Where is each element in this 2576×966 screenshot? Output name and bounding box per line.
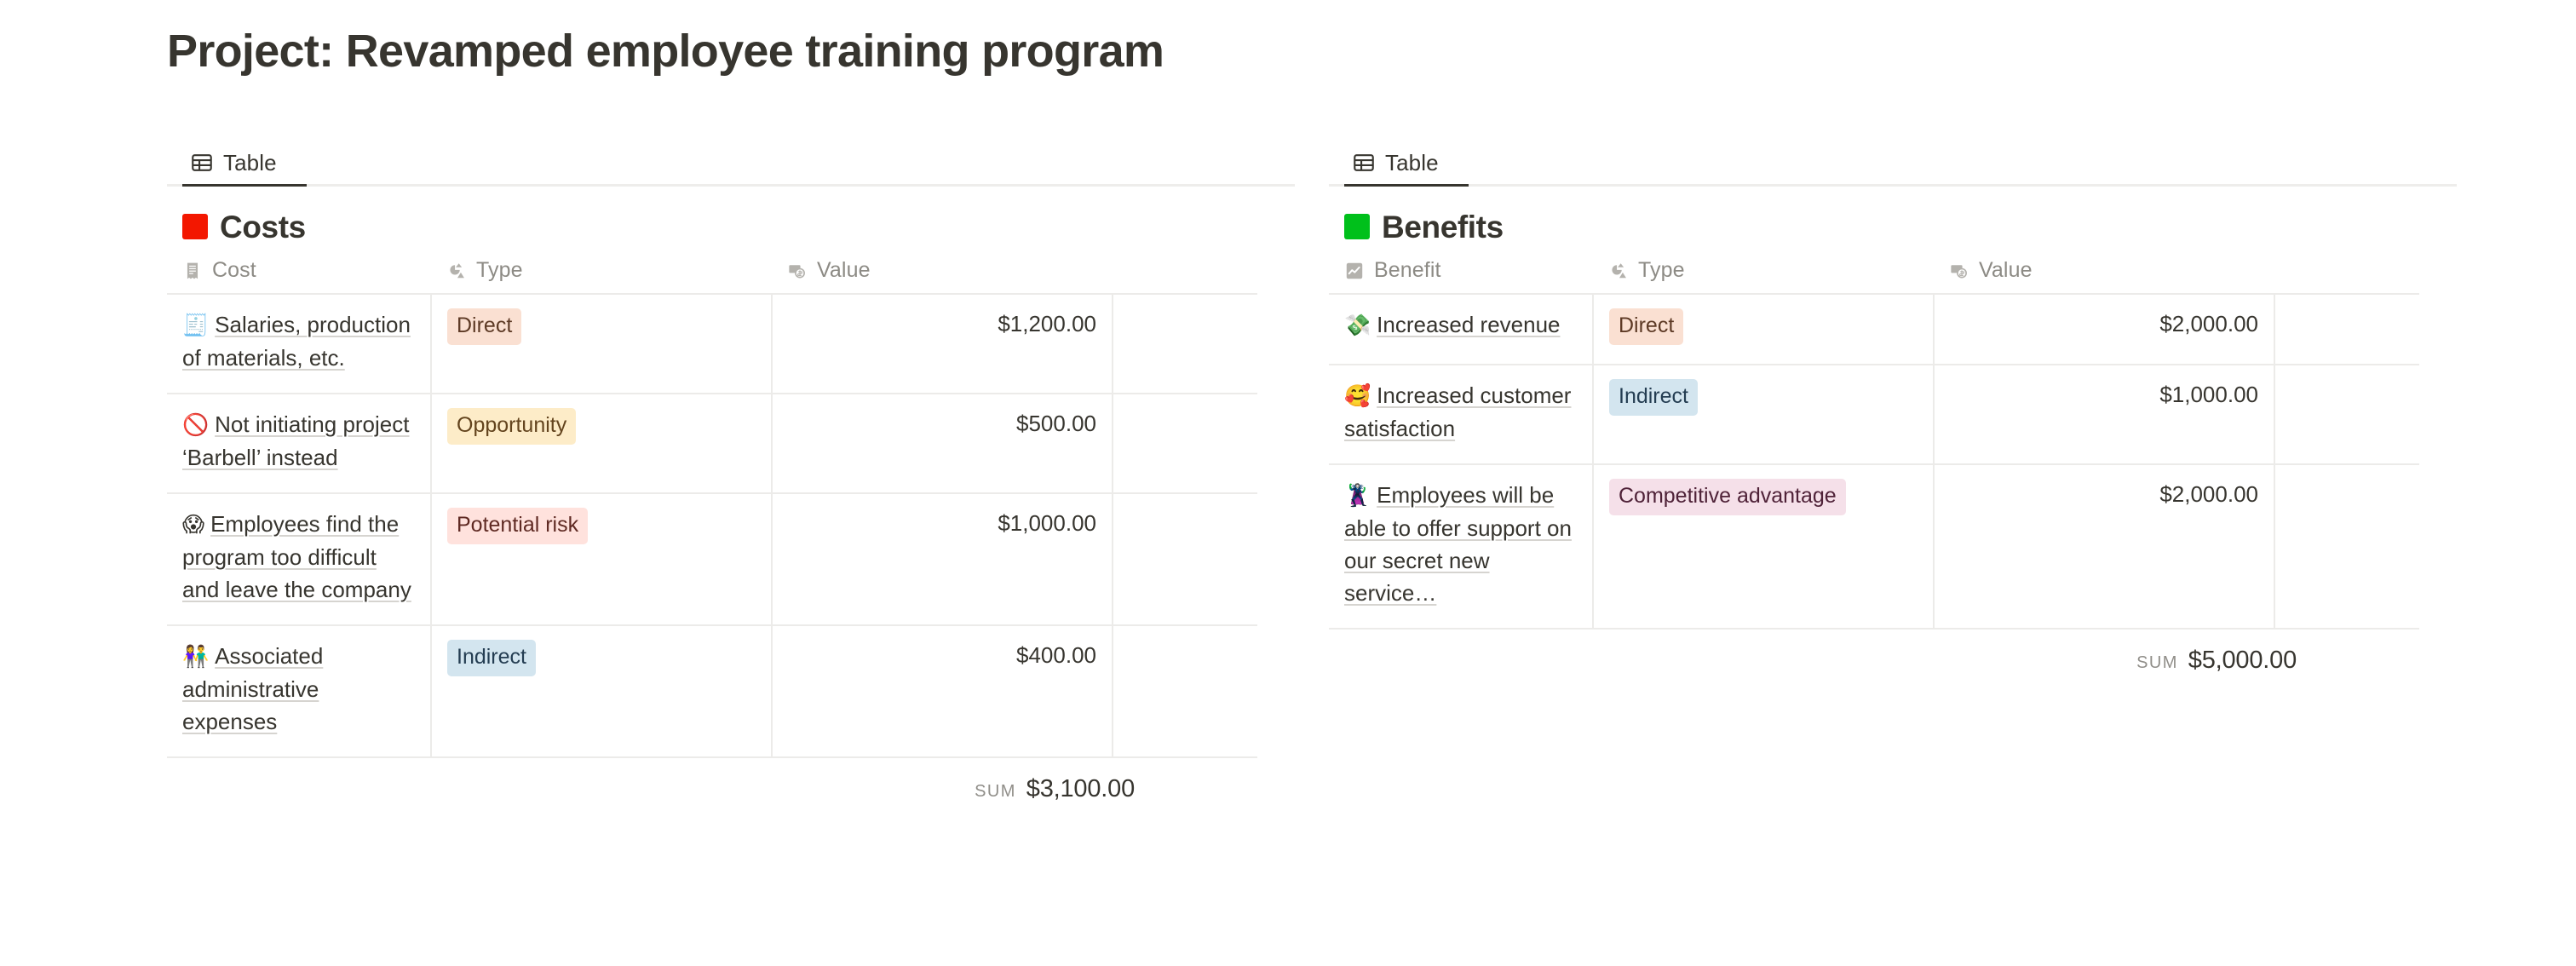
cell-spacer: [2274, 294, 2419, 365]
benefits-tab-underline: [1329, 184, 2457, 187]
type-tag: Direct: [447, 308, 521, 345]
type-tag: Indirect: [447, 640, 536, 676]
row-title-link[interactable]: Increased revenue: [1377, 312, 1560, 337]
cell-cost-type[interactable]: Opportunity: [431, 394, 772, 493]
currency-icon: [1949, 261, 1969, 281]
sum-value: $5,000.00: [2188, 647, 2297, 675]
cell-benefit-title[interactable]: 🥰Increased customer satisfaction: [1329, 365, 1593, 464]
row-title-link[interactable]: Employees find the program too difficult…: [182, 511, 411, 602]
table-grid-icon: [1353, 152, 1375, 174]
row-title-link[interactable]: Salaries, production of materials, etc.: [182, 312, 411, 371]
cell-benefit-title[interactable]: 🦹Employees will be able to offer support…: [1329, 464, 1593, 629]
column-header-spacer: [1113, 260, 1257, 294]
sum-label: SUM: [975, 782, 1016, 802]
currency-icon: [787, 261, 808, 281]
sum-label: SUM: [2136, 653, 2178, 673]
table-row[interactable]: 👫Associated administrative expenses Indi…: [167, 625, 1257, 757]
two-people-emoji-icon: 👫: [182, 645, 209, 669]
costs-header-row: Cost Type: [167, 260, 1257, 294]
costs-tab-underline: [167, 184, 1295, 187]
cell-cost-type[interactable]: Indirect: [431, 625, 772, 757]
red-square-icon: [182, 214, 208, 239]
benefits-database-title: Benefits: [1329, 205, 2457, 248]
table-row[interactable]: 🥰Increased customer satisfaction Indirec…: [1329, 365, 2419, 464]
cell-spacer: [2274, 464, 2419, 629]
column-header-label: Benefit: [1374, 260, 1441, 281]
column-header-label: Type: [1638, 260, 1685, 281]
cell-cost-value[interactable]: $1,200.00: [772, 294, 1113, 394]
smiling-face-with-hearts-emoji-icon: 🥰: [1344, 384, 1371, 408]
benefits-tab-strip: Table: [1329, 143, 2457, 182]
cell-cost-value[interactable]: $1,000.00: [772, 493, 1113, 625]
receipt-emoji-icon: 🧾: [182, 313, 209, 337]
column-header-label: Value: [1979, 260, 2033, 281]
notion-page: Project: Revamped employee training prog…: [0, 0, 2576, 966]
cell-cost-value[interactable]: $400.00: [772, 625, 1113, 757]
row-title-link[interactable]: Increased customer satisfaction: [1344, 382, 1571, 441]
tab-label: Table: [223, 152, 277, 174]
benefits-table: Benefit Type: [1329, 260, 2419, 630]
type-tag: Competitive advantage: [1609, 479, 1846, 515]
cell-spacer: [1113, 394, 1257, 493]
type-tag: Indirect: [1609, 379, 1698, 416]
column-header-cost[interactable]: Cost: [167, 260, 431, 294]
column-header-label: Type: [476, 260, 523, 281]
benefits-sum-row[interactable]: SUM $5,000.00: [1329, 630, 2457, 675]
cell-benefit-value[interactable]: $1,000.00: [1934, 365, 2274, 464]
cell-spacer: [2274, 365, 2419, 464]
cell-cost-value[interactable]: $500.00: [772, 394, 1113, 493]
cell-cost-title[interactable]: 🚫Not initiating project ‘Barbell’ instea…: [167, 394, 431, 493]
cell-benefit-type[interactable]: Direct: [1593, 294, 1934, 365]
cell-spacer: [1113, 493, 1257, 625]
table-grid-icon: [191, 152, 213, 174]
receipt-icon: [182, 261, 203, 281]
cell-cost-type[interactable]: Potential risk: [431, 493, 772, 625]
cell-cost-title[interactable]: 👫Associated administrative expenses: [167, 625, 431, 757]
tab-table-benefits[interactable]: Table: [1344, 143, 1447, 182]
table-row[interactable]: 💸Increased revenue Direct $2,000.00: [1329, 294, 2419, 365]
column-header-spacer: [2274, 260, 2419, 294]
cell-benefit-title[interactable]: 💸Increased revenue: [1329, 294, 1593, 365]
table-row[interactable]: 😱Employees find the program too difficul…: [167, 493, 1257, 625]
money-with-wings-emoji-icon: 💸: [1344, 313, 1371, 337]
tab-label: Table: [1385, 152, 1439, 174]
cell-cost-title[interactable]: 😱Employees find the program too difficul…: [167, 493, 431, 625]
page-title: Project: Revamped employee training prog…: [167, 24, 1164, 80]
green-square-icon: [1344, 214, 1370, 239]
benefits-header-row: Benefit Type: [1329, 260, 2419, 294]
column-header-label: Value: [817, 260, 871, 281]
screaming-face-emoji-icon: 😱: [182, 513, 204, 537]
sum-value: $3,100.00: [1026, 775, 1135, 803]
costs-column: Table Costs: [167, 143, 1295, 803]
type-tag: Potential risk: [447, 508, 588, 544]
costs-tab-strip: Table: [167, 143, 1295, 182]
supervillain-emoji-icon: 🦹: [1344, 484, 1371, 508]
cell-benefit-type[interactable]: Indirect: [1593, 365, 1934, 464]
cell-benefit-value[interactable]: $2,000.00: [1934, 294, 2274, 365]
column-header-value[interactable]: Value: [772, 260, 1113, 294]
select-icon: [446, 261, 467, 281]
cell-spacer: [1113, 294, 1257, 394]
tab-table-costs[interactable]: Table: [182, 143, 285, 182]
table-row[interactable]: 🦹Employees will be able to offer support…: [1329, 464, 2419, 629]
row-title-link[interactable]: Employees will be able to offer support …: [1344, 482, 1572, 606]
costs-sum-row[interactable]: SUM $3,100.00: [167, 758, 1295, 803]
costs-table: Cost Type: [167, 260, 1257, 758]
database-name: Benefits: [1382, 211, 1504, 243]
costs-database-title: Costs: [167, 205, 1295, 248]
select-icon: [1608, 261, 1629, 281]
chart-line-icon: [1344, 261, 1365, 281]
type-tag: Direct: [1609, 308, 1683, 345]
column-header-label: Cost: [212, 260, 256, 281]
table-row[interactable]: 🧾Salaries, production of materials, etc.…: [167, 294, 1257, 394]
column-header-type[interactable]: Type: [1593, 260, 1934, 294]
database-name: Costs: [220, 211, 306, 243]
column-header-benefit[interactable]: Benefit: [1329, 260, 1593, 294]
cell-benefit-value[interactable]: $2,000.00: [1934, 464, 2274, 629]
cell-cost-type[interactable]: Direct: [431, 294, 772, 394]
column-header-type[interactable]: Type: [431, 260, 772, 294]
cell-cost-title[interactable]: 🧾Salaries, production of materials, etc.: [167, 294, 431, 394]
cell-spacer: [1113, 625, 1257, 757]
table-row[interactable]: 🚫Not initiating project ‘Barbell’ instea…: [167, 394, 1257, 493]
row-title-link[interactable]: Not initiating project ‘Barbell’ instead: [182, 411, 409, 470]
type-tag: Opportunity: [447, 408, 576, 445]
cell-benefit-type[interactable]: Competitive advantage: [1593, 464, 1934, 629]
column-header-value[interactable]: Value: [1934, 260, 2274, 294]
benefits-column: Table Benefits: [1329, 143, 2457, 675]
no-entry-emoji-icon: 🚫: [182, 413, 209, 437]
